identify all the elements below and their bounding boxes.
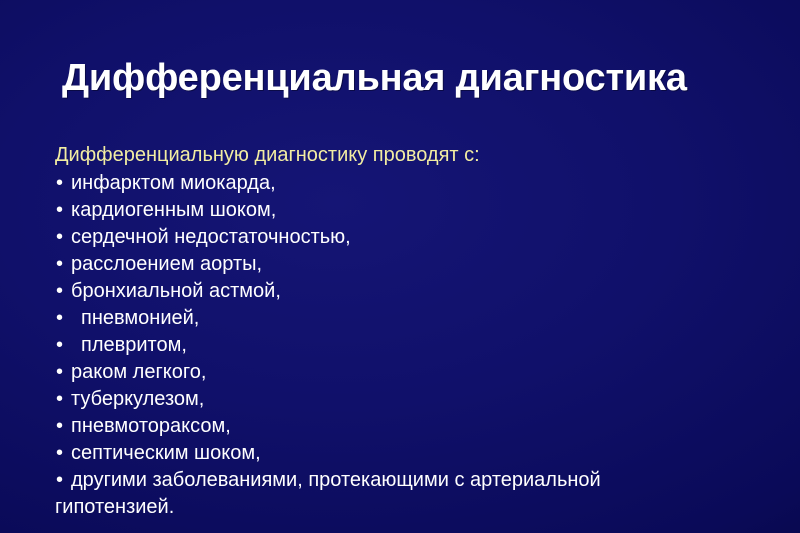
list-item-label: пневмотораксом,: [71, 415, 231, 437]
bullet-icon: •: [56, 197, 63, 224]
bullet-icon: •: [56, 170, 63, 197]
list-item-label: инфарктом миокарда,: [71, 172, 276, 194]
list-item: • раком легкого,: [55, 359, 755, 386]
list-item: • бронхиальной астмой,: [55, 278, 755, 305]
bullet-icon: •: [56, 413, 63, 440]
list-item: • расслоением аорты,: [55, 251, 755, 278]
bullet-icon: •: [56, 305, 63, 332]
list-item-label: плевритом,: [81, 334, 187, 356]
list-item-label: кардиогенным шоком,: [71, 199, 276, 221]
slide-body: Дифференциальную диагностику проводят с:…: [55, 142, 755, 521]
presentation-slide: Дифференциальная диагностика Дифференциа…: [0, 0, 800, 533]
list-item-label-continued: гипотензией.: [55, 494, 755, 521]
list-item: • пневмонией,: [55, 305, 755, 332]
list-item: • туберкулезом,: [55, 386, 755, 413]
slide-title: Дифференциальная диагностика: [62, 55, 762, 101]
list-item-label: расслоением аорты,: [71, 253, 262, 275]
list-item-label: другими заболеваниями, протекающими с ар…: [55, 467, 755, 494]
list-item-label: сердечной недостаточностью,: [71, 226, 351, 248]
bullet-icon: •: [56, 386, 63, 413]
list-item: • пневмотораксом,: [55, 413, 755, 440]
bullet-icon: •: [56, 332, 63, 359]
bullet-icon: •: [56, 251, 63, 278]
list-item-label: бронхиальной астмой,: [71, 280, 281, 302]
bullet-icon: •: [56, 278, 63, 305]
list-item: • септическим шоком,: [55, 440, 755, 467]
list-item: • сердечной недостаточностью,: [55, 224, 755, 251]
differential-diagnosis-list: • инфарктом миокарда, • кардиогенным шок…: [55, 170, 755, 521]
list-item: • кардиогенным шоком,: [55, 197, 755, 224]
list-item: • инфарктом миокарда,: [55, 170, 755, 197]
list-item-label: туберкулезом,: [71, 388, 204, 410]
bullet-icon: •: [56, 467, 63, 494]
list-item: • плевритом,: [55, 332, 755, 359]
list-item-label: раком легкого,: [71, 361, 206, 383]
bullet-icon: •: [56, 224, 63, 251]
bullet-icon: •: [56, 440, 63, 467]
bullet-icon: •: [56, 359, 63, 386]
list-item-label: септическим шоком,: [71, 442, 261, 464]
lead-line: Дифференциальную диагностику проводят с:: [55, 142, 755, 169]
list-item-label: пневмонией,: [81, 307, 199, 329]
list-item: • другими заболеваниями, протекающими с …: [55, 467, 755, 521]
